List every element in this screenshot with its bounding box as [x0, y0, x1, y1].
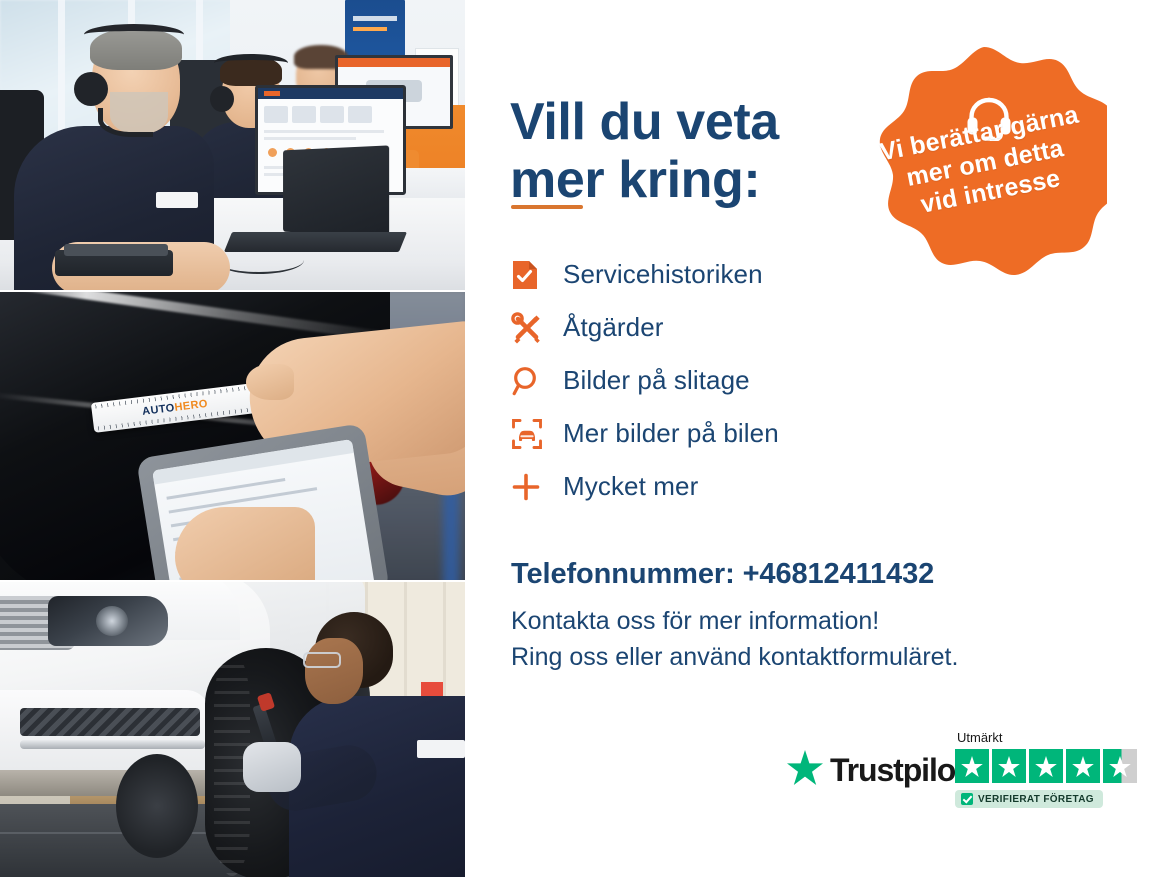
phone-number: Telefonnummer: +46812411432	[511, 558, 934, 591]
content-column: Vill du veta mer kring: Vi berättar	[465, 0, 1170, 877]
trustpilot-rating-label: Utmärkt	[957, 730, 1137, 745]
page-title-line2: mer kring:	[510, 151, 760, 209]
contact-text-line1: Kontakta oss för mer information!	[511, 604, 958, 640]
promo-page: AUTOHERO	[0, 0, 1170, 877]
trustpilot-star-filled	[1029, 749, 1063, 783]
trustpilot-stars	[955, 749, 1137, 783]
vehicle-inspection-photo: AUTOHERO	[0, 292, 465, 580]
trustpilot-logo: Trustpilot	[787, 750, 965, 790]
page-title-line1: Vill du veta	[510, 93, 779, 151]
trustpilot-star-filled	[1066, 749, 1100, 783]
trustpilot-rating: Utmärkt	[955, 730, 1137, 810]
trustpilot-star-filled	[992, 749, 1026, 783]
trustpilot-wordmark: Trustpilot	[830, 752, 965, 789]
feature-item-mer-bilder-pa-bilen: Mer bilder på bilen	[511, 407, 1111, 460]
feature-item-servicehistoriken: Servicehistoriken	[511, 248, 1111, 301]
trustpilot-widget[interactable]: Trustpilot Utmärkt	[787, 730, 1137, 825]
title-underline-rule	[511, 205, 583, 209]
feature-item-mycket-mer: Mycket mer	[511, 460, 1111, 513]
feature-item-bilder-pa-slitage: Bilder på slitage	[511, 354, 1111, 407]
feature-item-label: Åtgärder	[563, 312, 664, 343]
feature-item-atgarder: Åtgärder	[511, 301, 1111, 354]
contact-text-line2: Ring oss eller använd kontaktformuläret.	[511, 640, 958, 676]
feature-item-label: Servicehistoriken	[563, 259, 763, 290]
check-icon	[961, 793, 973, 805]
call-center-agents-photo	[0, 0, 465, 290]
trustpilot-star-filled	[955, 749, 989, 783]
wrench-screwdriver-icon	[511, 312, 563, 344]
feature-item-label: Bilder på slitage	[563, 365, 750, 396]
contact-text: Kontakta oss för mer information! Ring o…	[511, 604, 958, 675]
photo-column: AUTOHERO	[0, 0, 465, 877]
plus-icon	[511, 472, 563, 502]
feature-item-label: Mycket mer	[563, 471, 698, 502]
tire-inspection-photo	[0, 582, 465, 877]
verified-company-badge: VERIFIERAT FÖRETAG	[955, 790, 1103, 808]
car-scan-icon	[511, 418, 563, 450]
verified-company-label: VERIFIERAT FÖRETAG	[978, 794, 1094, 805]
trustpilot-star-icon	[787, 750, 823, 790]
trustpilot-star-half	[1103, 749, 1137, 783]
document-check-icon	[511, 259, 563, 291]
feature-list: Servicehistoriken Åtgärder	[511, 248, 1111, 513]
magnifier-icon	[511, 365, 563, 397]
feature-item-label: Mer bilder på bilen	[563, 418, 779, 449]
